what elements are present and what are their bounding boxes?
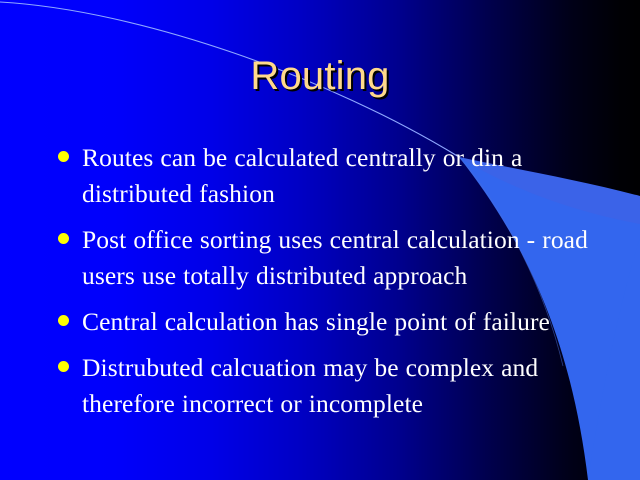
bullet-item: Central calculation has single point of …	[56, 304, 598, 340]
bullet-dot-icon	[58, 233, 69, 244]
bullet-item: Routes can be calculated centrally or di…	[56, 140, 598, 212]
bullet-item-text: Routes can be calculated centrally or di…	[82, 140, 598, 212]
bullet-dot-icon	[58, 361, 69, 372]
bullet-item: Post office sorting uses central calcula…	[56, 222, 598, 294]
bullet-item: Distrubuted calcuation may be complex an…	[56, 350, 598, 422]
bullet-item-text: Distrubuted calcuation may be complex an…	[82, 350, 598, 422]
slide-title-text: Routing	[250, 54, 389, 98]
bullet-dot-icon	[58, 315, 69, 326]
bullet-dot-icon	[58, 151, 69, 162]
bullet-item-text: Post office sorting uses central calcula…	[82, 222, 598, 294]
bullet-item-text: Central calculation has single point of …	[82, 304, 598, 340]
slide-title: Routing	[0, 54, 640, 98]
presentation-slide: Routing Routes can be calculated central…	[0, 0, 640, 480]
slide-body-bullet-list: Routes can be calculated centrally or di…	[56, 140, 598, 422]
